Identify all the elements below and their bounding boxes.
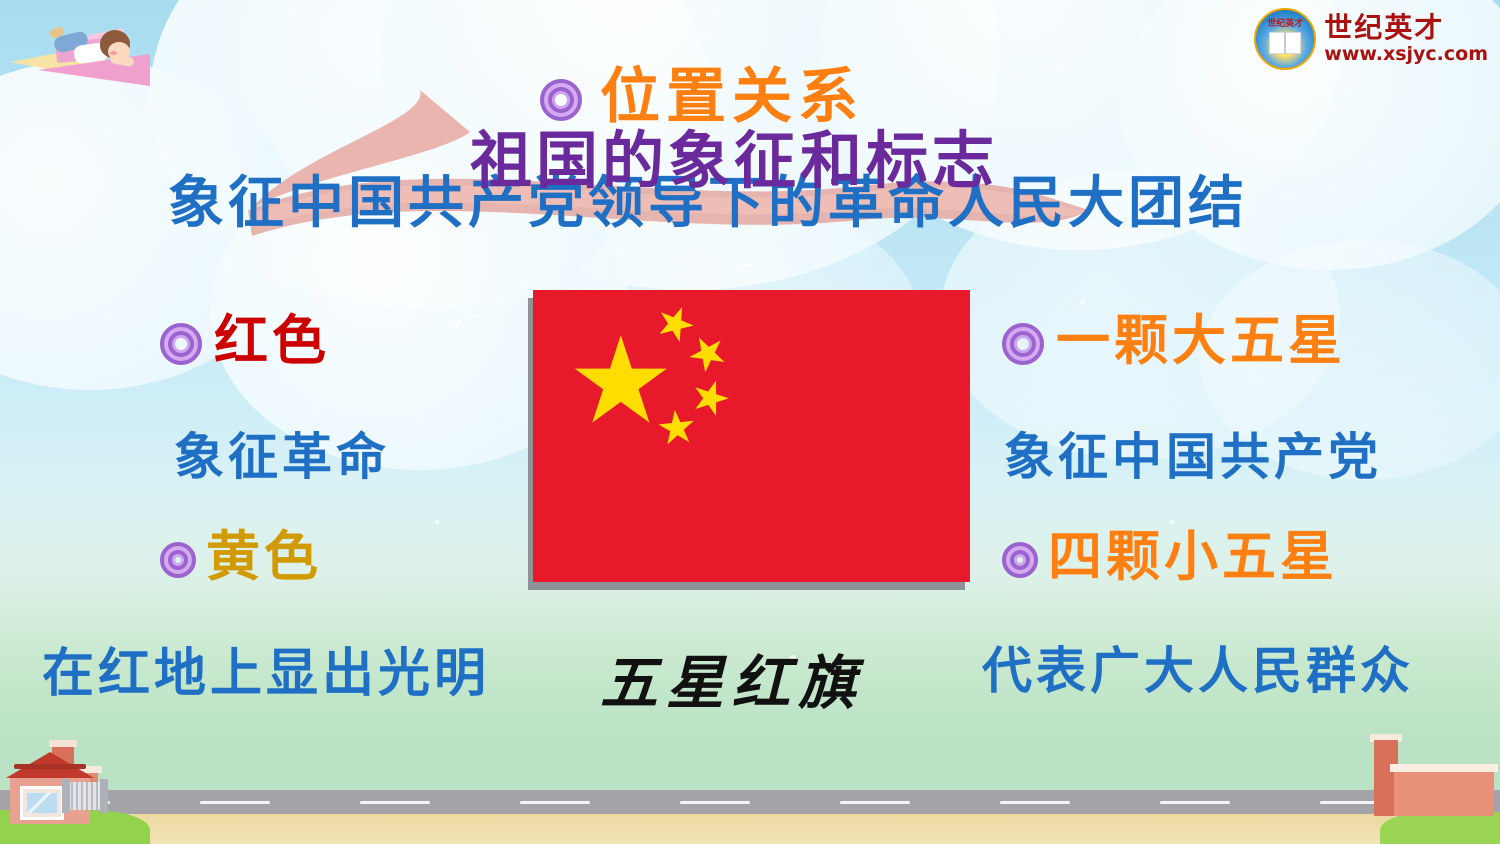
block-yellow-head-row: 黄色 bbox=[160, 512, 490, 591]
sand-ground bbox=[0, 814, 1500, 844]
block-big-head: 一颗大五星 bbox=[1056, 309, 1346, 372]
block-red-head: 红色 bbox=[214, 309, 330, 372]
brand-text: 世纪英才 www.xsjyc.com bbox=[1324, 14, 1488, 64]
open-book-icon bbox=[1269, 32, 1301, 54]
bullet-ring-icon bbox=[160, 323, 202, 365]
block-small-desc: 代表广大人民群众 bbox=[982, 631, 1414, 703]
block-red-color: 红色 象征革命 bbox=[160, 296, 390, 489]
brand-name: 世纪英才 bbox=[1324, 14, 1488, 42]
paper-plane-kid bbox=[8, 10, 168, 102]
block-big-desc: 象征中国共产党 bbox=[1004, 417, 1382, 489]
fence-left bbox=[66, 782, 104, 810]
topic-orange-label: 位置关系 bbox=[600, 62, 864, 132]
block-yellow-head: 黄色 bbox=[206, 525, 322, 588]
china-flag: ★ ★ ★ ★ ★ bbox=[528, 290, 970, 590]
road bbox=[0, 790, 1500, 814]
bullet-ring-icon bbox=[1002, 542, 1038, 578]
brick-wall-right bbox=[1374, 758, 1494, 816]
block-big-star: 一颗大五星 象征中国共产党 bbox=[1002, 296, 1382, 489]
block-red-desc: 象征革命 bbox=[174, 417, 390, 489]
bullet-ring-icon bbox=[1002, 323, 1044, 365]
bullet-ring-icon bbox=[540, 79, 582, 121]
slide-canvas: 世纪英才 世纪英才 www.xsjyc.com 象征中国共产党领导下的革命人民大… bbox=[0, 0, 1500, 844]
block-big-head-row: 一颗大五星 bbox=[1002, 296, 1382, 375]
flag-field: ★ ★ ★ ★ ★ bbox=[533, 290, 970, 582]
bullet-ring-icon bbox=[160, 542, 196, 578]
brand-url: www.xsjyc.com bbox=[1324, 45, 1488, 64]
grass-patch-right bbox=[1380, 812, 1500, 844]
block-yellow-color: 黄色 在红地上显出光明 bbox=[160, 512, 490, 706]
brand-logo[interactable]: 世纪英才 世纪英才 www.xsjyc.com bbox=[1254, 8, 1488, 70]
block-red-head-row: 红色 bbox=[160, 296, 390, 375]
block-small-head: 四颗小五星 bbox=[1048, 525, 1338, 588]
block-yellow-desc: 在红地上显出光明 bbox=[42, 631, 490, 706]
small-star-icon: ★ bbox=[654, 402, 700, 452]
flag-caption: 五星红旗 bbox=[600, 636, 864, 720]
topic-orange-row: 位置关系 bbox=[540, 48, 864, 135]
logo-mark-text: 世纪英才 bbox=[1264, 17, 1306, 31]
block-small-stars: 四颗小五星 代表广大人民群众 bbox=[1002, 512, 1414, 703]
block-small-head-row: 四颗小五星 bbox=[1002, 512, 1414, 591]
logo-mark-icon: 世纪英才 bbox=[1254, 8, 1316, 70]
